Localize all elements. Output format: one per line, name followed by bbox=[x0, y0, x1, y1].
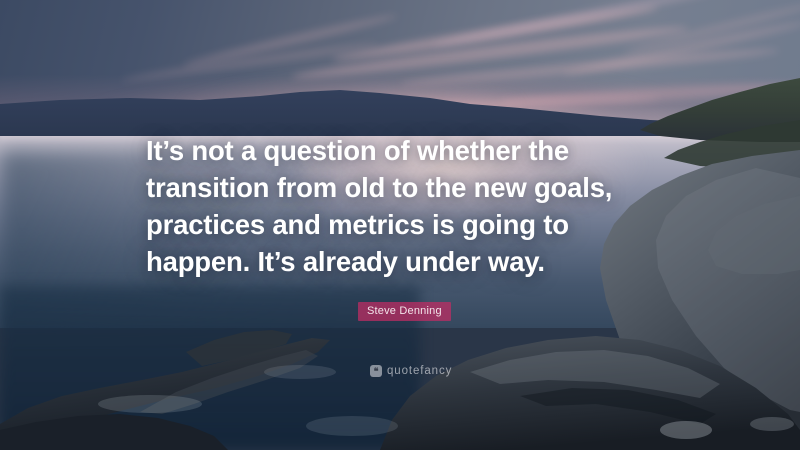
rock-spray-highlight bbox=[750, 417, 794, 431]
rock-spray-highlight bbox=[660, 421, 712, 439]
watermark-brand: quotefancy bbox=[387, 365, 452, 377]
foam-wash bbox=[306, 416, 398, 436]
quote-mark-icon: ❝ bbox=[370, 365, 382, 377]
foam-wash bbox=[98, 395, 202, 413]
foam-wash bbox=[264, 365, 336, 379]
quote-text: It’s not a question of whether the trans… bbox=[146, 132, 666, 280]
watermark: ❝ quotefancy bbox=[370, 365, 452, 377]
author-badge: Steve Denning bbox=[358, 302, 451, 321]
quote-poster: It’s not a question of whether the trans… bbox=[0, 0, 800, 450]
